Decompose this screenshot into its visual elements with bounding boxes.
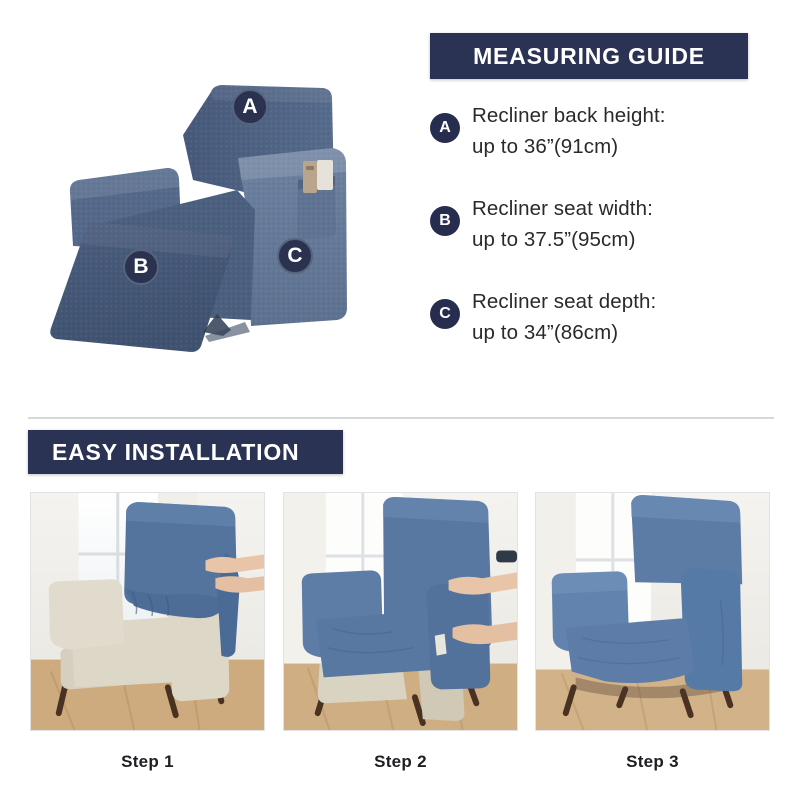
measurement-item-c: C Recliner seat depth: up to 34”(86cm)	[430, 286, 760, 348]
infographic-page: A B C MEASURING GUIDE A Recliner back he…	[0, 0, 800, 800]
measurement-text-c: Recliner seat depth: up to 34”(86cm)	[472, 286, 656, 348]
step-label-1: Step 1	[30, 752, 265, 772]
measurement-text-b: Recliner seat width: up to 37.5”(95cm)	[472, 193, 653, 255]
measurement-item-b: B Recliner seat width: up to 37.5”(95cm)	[430, 193, 760, 255]
step-1-illustration	[31, 493, 264, 730]
chair-badge-c-letter: C	[277, 238, 313, 274]
step-3-illustration	[536, 493, 769, 730]
section-divider	[28, 417, 774, 419]
measurement-label-b: Recliner seat width:	[472, 197, 653, 220]
measuring-guide-banner: MEASURING GUIDE	[430, 33, 748, 79]
chair-badge-b-letter: B	[123, 249, 159, 285]
chair-badge-c: C	[277, 238, 313, 274]
recliner-diagram: A B C	[45, 40, 385, 390]
step-label-2: Step 2	[283, 752, 518, 772]
measurement-badge-c: C	[430, 299, 460, 329]
easy-installation-title: EASY INSTALLATION	[52, 439, 299, 466]
installation-photo-step-3	[535, 492, 770, 731]
measurement-value-c: up to 34”(86cm)	[472, 317, 656, 348]
measurement-text-a: Recliner back height: up to 36”(91cm)	[472, 100, 666, 162]
measurement-label-a: Recliner back height:	[472, 104, 666, 127]
step-2-illustration	[284, 493, 517, 730]
chair-badge-a: A	[232, 89, 268, 125]
measurement-label-c: Recliner seat depth:	[472, 290, 656, 313]
step-label-3: Step 3	[535, 752, 770, 772]
measurement-list: A Recliner back height: up to 36”(91cm) …	[430, 100, 760, 379]
measuring-guide-title: MEASURING GUIDE	[473, 43, 705, 70]
installation-photo-step-2	[283, 492, 518, 731]
measurement-value-b: up to 37.5”(95cm)	[472, 224, 653, 255]
measurement-badge-a: A	[430, 113, 460, 143]
measurement-item-a: A Recliner back height: up to 36”(91cm)	[430, 100, 760, 162]
recliner-illustration-svg	[45, 40, 385, 390]
chair-badge-a-letter: A	[232, 89, 268, 125]
installation-photo-step-1	[30, 492, 265, 731]
measurement-badge-b: B	[430, 206, 460, 236]
chair-badge-b: B	[123, 249, 159, 285]
remote-control	[303, 160, 333, 193]
measurement-value-a: up to 36”(91cm)	[472, 131, 666, 162]
easy-installation-banner: EASY INSTALLATION	[28, 430, 343, 474]
